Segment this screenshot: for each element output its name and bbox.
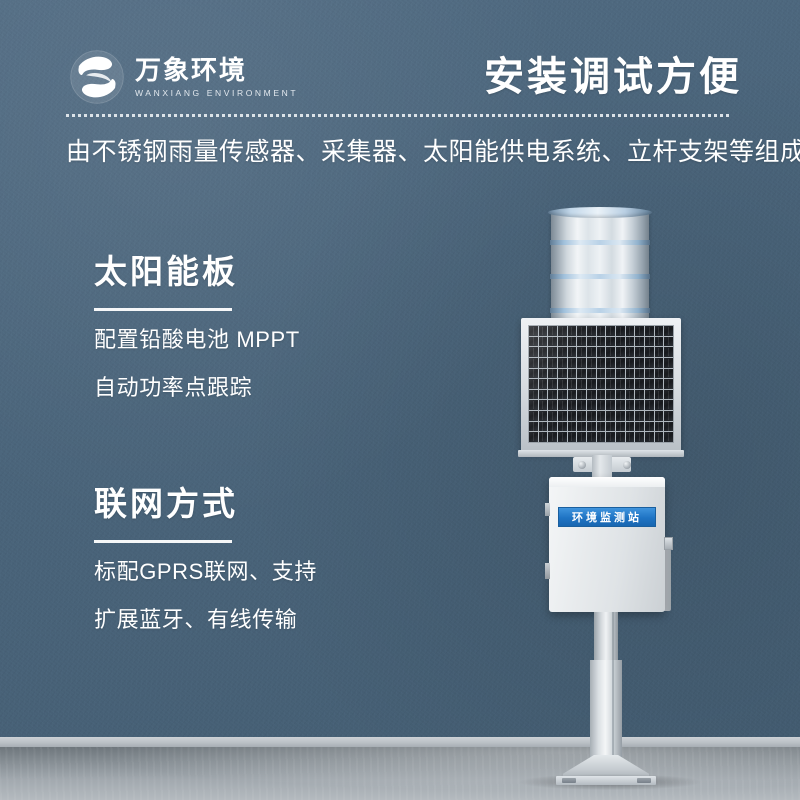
solar-cell bbox=[558, 326, 567, 336]
solar-cell bbox=[558, 337, 567, 347]
solar-cell bbox=[539, 369, 548, 379]
rain-gauge-band bbox=[550, 240, 650, 245]
solar-cell bbox=[548, 400, 557, 410]
solar-panel bbox=[521, 318, 681, 452]
solar-cell bbox=[655, 379, 664, 389]
solar-cell bbox=[568, 400, 577, 410]
solar-cell bbox=[539, 379, 548, 389]
solar-cell bbox=[568, 369, 577, 379]
solar-cell bbox=[597, 422, 606, 432]
solar-cell bbox=[587, 347, 596, 357]
solar-cell bbox=[568, 337, 577, 347]
solar-cell bbox=[558, 432, 567, 442]
solar-cell bbox=[645, 390, 654, 400]
solar-cell bbox=[548, 369, 557, 379]
solar-cell bbox=[655, 422, 664, 432]
solar-cell bbox=[548, 422, 557, 432]
solar-cell bbox=[635, 326, 644, 336]
solar-cell bbox=[606, 422, 615, 432]
solar-cell bbox=[529, 379, 538, 389]
solar-cell bbox=[655, 369, 664, 379]
solar-cell bbox=[548, 358, 557, 368]
solar-cell bbox=[568, 390, 577, 400]
control-box-top-edge bbox=[549, 477, 665, 487]
solar-cell bbox=[635, 379, 644, 389]
solar-cell bbox=[606, 326, 615, 336]
solar-cell bbox=[597, 390, 606, 400]
solar-cell bbox=[655, 358, 664, 368]
solar-cell bbox=[577, 379, 586, 389]
solar-cell bbox=[587, 326, 596, 336]
solar-cell-grid bbox=[528, 325, 674, 443]
solar-cell bbox=[558, 390, 567, 400]
solar-cell bbox=[558, 347, 567, 357]
solar-cell bbox=[664, 422, 673, 432]
solar-cell bbox=[529, 422, 538, 432]
solar-cell bbox=[529, 358, 538, 368]
solar-cell bbox=[587, 390, 596, 400]
solar-cell bbox=[577, 390, 586, 400]
solar-cell bbox=[645, 400, 654, 410]
solar-cell bbox=[664, 358, 673, 368]
base-anchor-bolt bbox=[562, 778, 576, 783]
solar-cell bbox=[568, 326, 577, 336]
solar-cell bbox=[568, 432, 577, 442]
solar-cell bbox=[645, 347, 654, 357]
solar-cell bbox=[587, 411, 596, 421]
weather-station-device: 环境监测站 bbox=[0, 0, 800, 800]
solar-cell bbox=[655, 347, 664, 357]
solar-cell bbox=[548, 390, 557, 400]
bracket-bolt bbox=[623, 461, 631, 469]
base-anchor-bolt bbox=[637, 778, 651, 783]
solar-cell bbox=[645, 432, 654, 442]
solar-cell bbox=[539, 411, 548, 421]
solar-cell bbox=[635, 390, 644, 400]
solar-cell bbox=[616, 369, 625, 379]
solar-cell bbox=[616, 390, 625, 400]
solar-cell bbox=[664, 369, 673, 379]
solar-cell bbox=[568, 347, 577, 357]
control-box-nameplate: 环境监测站 bbox=[558, 507, 656, 527]
solar-cell bbox=[626, 422, 635, 432]
solar-cell bbox=[597, 432, 606, 442]
rain-gauge-sensor bbox=[551, 212, 649, 334]
solar-cell bbox=[664, 390, 673, 400]
pole-lower-section bbox=[590, 660, 622, 770]
rain-gauge-band bbox=[550, 274, 650, 279]
solar-cell bbox=[558, 379, 567, 389]
solar-cell bbox=[539, 337, 548, 347]
solar-cell bbox=[664, 379, 673, 389]
solar-cell bbox=[587, 422, 596, 432]
solar-cell bbox=[577, 358, 586, 368]
control-box-latch bbox=[664, 537, 673, 550]
solar-cell bbox=[529, 347, 538, 357]
solar-cell bbox=[616, 358, 625, 368]
solar-cell bbox=[539, 347, 548, 357]
solar-cell bbox=[616, 432, 625, 442]
solar-cell bbox=[616, 422, 625, 432]
solar-cell bbox=[645, 358, 654, 368]
solar-cell bbox=[626, 432, 635, 442]
solar-cell bbox=[558, 358, 567, 368]
solar-cell bbox=[655, 411, 664, 421]
solar-cell bbox=[597, 337, 606, 347]
solar-cell bbox=[645, 411, 654, 421]
solar-cell bbox=[587, 432, 596, 442]
solar-cell bbox=[606, 337, 615, 347]
solar-cell bbox=[539, 432, 548, 442]
solar-cell bbox=[606, 347, 615, 357]
solar-cell bbox=[655, 326, 664, 336]
solar-cell bbox=[548, 411, 557, 421]
rain-gauge-band bbox=[550, 308, 650, 313]
solar-cell bbox=[645, 369, 654, 379]
solar-cell bbox=[645, 326, 654, 336]
solar-cell bbox=[577, 422, 586, 432]
solar-cell bbox=[635, 400, 644, 410]
solar-cell bbox=[558, 400, 567, 410]
solar-cell bbox=[626, 337, 635, 347]
solar-cell bbox=[548, 337, 557, 347]
solar-cell bbox=[626, 358, 635, 368]
solar-cell bbox=[558, 411, 567, 421]
solar-cell bbox=[539, 390, 548, 400]
solar-cell bbox=[597, 326, 606, 336]
solar-cell bbox=[655, 337, 664, 347]
solar-cell bbox=[597, 358, 606, 368]
solar-cell bbox=[626, 347, 635, 357]
solar-cell bbox=[635, 358, 644, 368]
solar-cell bbox=[568, 411, 577, 421]
solar-cell bbox=[587, 358, 596, 368]
solar-cell bbox=[645, 337, 654, 347]
solar-cell bbox=[606, 432, 615, 442]
solar-cell bbox=[597, 411, 606, 421]
solar-cell bbox=[548, 347, 557, 357]
solar-cell bbox=[597, 379, 606, 389]
solar-cell bbox=[606, 400, 615, 410]
solar-cell bbox=[664, 347, 673, 357]
solar-cell bbox=[606, 379, 615, 389]
solar-cell bbox=[655, 400, 664, 410]
product-banner: 万象环境 WANXIANG ENVIRONMENT 安装调试方便 由不锈钢雨量传… bbox=[0, 0, 800, 800]
pole-seam bbox=[612, 612, 614, 772]
solar-cell bbox=[606, 390, 615, 400]
solar-cell bbox=[577, 337, 586, 347]
solar-cell bbox=[539, 422, 548, 432]
solar-cell bbox=[558, 422, 567, 432]
solar-cell bbox=[529, 326, 538, 336]
solar-cell bbox=[655, 432, 664, 442]
solar-cell bbox=[577, 369, 586, 379]
solar-cell bbox=[587, 379, 596, 389]
solar-cell bbox=[548, 326, 557, 336]
solar-cell bbox=[616, 400, 625, 410]
solar-cell bbox=[548, 432, 557, 442]
solar-cell bbox=[635, 369, 644, 379]
solar-cell bbox=[616, 337, 625, 347]
solar-cell bbox=[587, 337, 596, 347]
solar-cell bbox=[606, 411, 615, 421]
solar-cell bbox=[539, 326, 548, 336]
solar-cell bbox=[587, 400, 596, 410]
solar-cell bbox=[597, 347, 606, 357]
control-box-nameplate-text: 环境监测站 bbox=[572, 509, 642, 525]
solar-cell bbox=[568, 379, 577, 389]
solar-cell bbox=[635, 432, 644, 442]
solar-cell bbox=[645, 379, 654, 389]
solar-cell bbox=[664, 432, 673, 442]
solar-cell bbox=[597, 400, 606, 410]
solar-cell bbox=[645, 422, 654, 432]
solar-cell bbox=[635, 347, 644, 357]
bracket-bolt bbox=[578, 461, 586, 469]
solar-cell bbox=[626, 379, 635, 389]
solar-cell bbox=[664, 326, 673, 336]
solar-cell bbox=[548, 379, 557, 389]
solar-cell bbox=[577, 411, 586, 421]
solar-cell bbox=[635, 411, 644, 421]
solar-cell bbox=[626, 400, 635, 410]
solar-cell bbox=[664, 411, 673, 421]
solar-cell bbox=[635, 337, 644, 347]
solar-cell bbox=[539, 400, 548, 410]
control-box-hinge bbox=[545, 503, 550, 516]
solar-cell bbox=[529, 432, 538, 442]
solar-cell bbox=[655, 390, 664, 400]
solar-cell bbox=[577, 326, 586, 336]
solar-cell bbox=[577, 347, 586, 357]
solar-cell bbox=[529, 369, 538, 379]
solar-cell bbox=[664, 400, 673, 410]
solar-cell bbox=[616, 326, 625, 336]
solar-cell bbox=[606, 358, 615, 368]
solar-cell bbox=[664, 337, 673, 347]
control-box: 环境监测站 bbox=[549, 477, 665, 612]
solar-cell bbox=[616, 379, 625, 389]
solar-cell bbox=[626, 369, 635, 379]
solar-cell bbox=[606, 369, 615, 379]
solar-cell bbox=[577, 432, 586, 442]
solar-cell bbox=[577, 400, 586, 410]
solar-cell bbox=[616, 411, 625, 421]
solar-cell bbox=[626, 411, 635, 421]
solar-cell bbox=[529, 400, 538, 410]
solar-cell bbox=[568, 422, 577, 432]
solar-cell bbox=[568, 358, 577, 368]
solar-cell bbox=[626, 390, 635, 400]
solar-cell bbox=[539, 358, 548, 368]
solar-cell bbox=[597, 369, 606, 379]
rain-gauge-rim bbox=[548, 207, 652, 218]
control-box-hinge bbox=[545, 563, 550, 579]
solar-cell bbox=[616, 347, 625, 357]
solar-cell bbox=[635, 422, 644, 432]
solar-cell bbox=[626, 326, 635, 336]
solar-cell bbox=[558, 369, 567, 379]
solar-cell bbox=[529, 390, 538, 400]
solar-cell bbox=[587, 369, 596, 379]
solar-cell bbox=[529, 337, 538, 347]
solar-cell bbox=[529, 411, 538, 421]
